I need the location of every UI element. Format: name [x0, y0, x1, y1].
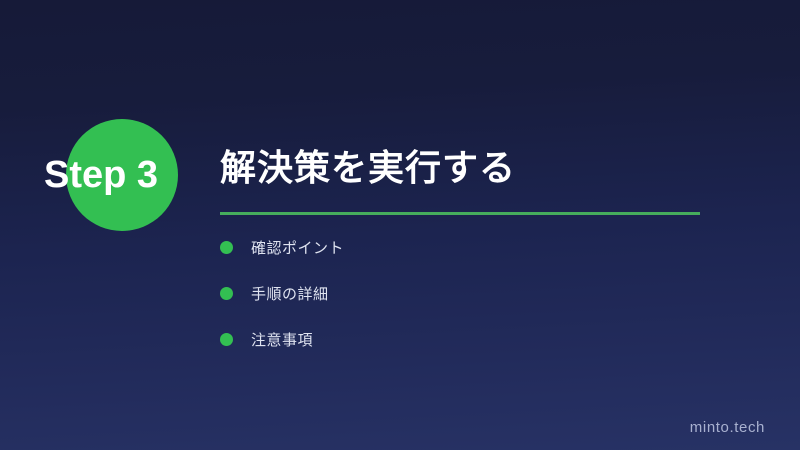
step-badge-label: Step 3	[44, 152, 204, 198]
bullet-dot-icon	[220, 333, 233, 346]
list-item-label: 手順の詳細	[251, 283, 329, 304]
bullet-dot-icon	[220, 287, 233, 300]
list-item-label: 確認ポイント	[251, 237, 344, 258]
footer-brand: minto.tech	[690, 419, 765, 436]
bullet-dot-icon	[220, 241, 233, 254]
list-item: 手順の詳細	[220, 279, 650, 307]
list-item-label: 注意事項	[251, 329, 313, 350]
list-item: 確認ポイント	[220, 233, 650, 261]
bullet-list: 確認ポイント 手順の詳細 注意事項	[220, 233, 650, 371]
slide-title: 解決策を実行する	[220, 146, 516, 190]
list-item: 注意事項	[220, 325, 650, 353]
title-divider	[220, 212, 700, 215]
slide-canvas: Step 3 解決策を実行する 確認ポイント 手順の詳細 注意事項 minto.…	[0, 0, 800, 450]
